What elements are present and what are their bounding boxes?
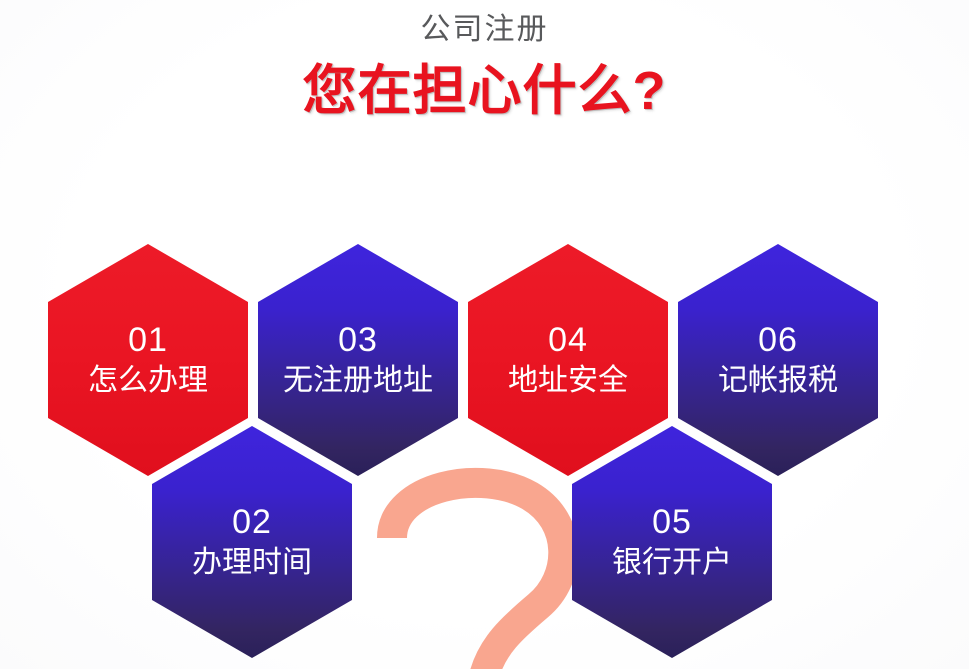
page-subtitle: 公司注册	[0, 10, 969, 50]
hexagon-item-01[interactable]: 01 怎么办理	[48, 244, 248, 476]
hexagon-label: 怎么办理	[88, 362, 208, 400]
company-registration-poster: 公司注册 您在担心什么? 01 怎么办理 03 无注册地址 04 地址安全 06…	[0, 0, 969, 669]
hexagon-number: 04	[548, 320, 588, 360]
hexagon-item-06[interactable]: 06 记帐报税	[678, 244, 878, 476]
hexagon-number: 05	[652, 502, 692, 542]
hexagon-number: 03	[338, 320, 378, 360]
hexagon-label: 记帐报税	[718, 362, 838, 400]
hexagon-item-04[interactable]: 04 地址安全	[468, 244, 668, 476]
hexagon-label: 无注册地址	[283, 362, 433, 400]
hexagon-label: 银行开户	[612, 544, 732, 582]
heading-block: 公司注册 您在担心什么?	[0, 10, 969, 124]
hexagon-item-02[interactable]: 02 办理时间	[152, 426, 352, 658]
hexagon-label: 地址安全	[508, 362, 628, 400]
hexagon-label: 办理时间	[192, 544, 312, 582]
hexagon-number: 06	[758, 320, 798, 360]
hexagon-item-03[interactable]: 03 无注册地址	[258, 244, 458, 476]
hexagon-number: 02	[232, 502, 272, 542]
hexagon-item-05[interactable]: 05 银行开户	[572, 426, 772, 658]
page-title: 您在担心什么?	[0, 58, 969, 124]
hexagon-number: 01	[128, 320, 168, 360]
